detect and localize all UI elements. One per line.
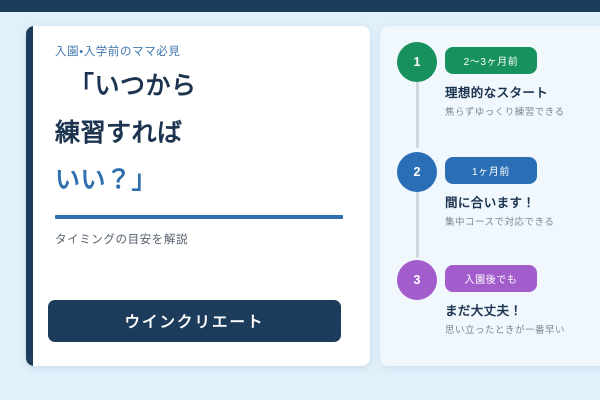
timeline-item[interactable]: 2 1ヶ月前 間に合います！ 集中コースで対応できる — [380, 148, 600, 258]
timeline-step-number: 2 — [414, 165, 421, 179]
timeline-subtitle: 集中コースで対応できる — [445, 214, 554, 228]
timeline-item[interactable]: 1 2〜3ヶ月前 理想的なスタート 焦らずゆっくり練習できる — [380, 38, 600, 148]
timeline-time-label: 入園後でも — [465, 271, 518, 286]
timeline-step-number: 3 — [414, 273, 421, 287]
timeline-step-badge: 3 — [397, 260, 437, 300]
left-accent-stripe — [26, 26, 33, 366]
cta-button-label: ウインクリエート — [124, 310, 264, 332]
divider — [55, 215, 343, 219]
timeline-time-badge: 1ヶ月前 — [445, 157, 537, 184]
timeline-step-badge: 1 — [397, 42, 437, 82]
caption-text: タイミングの目安を解説 — [55, 231, 348, 247]
top-accent-bar — [0, 0, 600, 12]
timeline-panel: 1 2〜3ヶ月前 理想的なスタート 焦らずゆっくり練習できる 2 1ヶ月前 間に… — [380, 26, 600, 366]
timeline-title: まだ大丈夫！ — [445, 300, 522, 319]
timeline-time-badge: 2〜3ヶ月前 — [445, 47, 537, 74]
timeline-time-label: 1ヶ月前 — [472, 163, 510, 178]
timeline-time-label: 2〜3ヶ月前 — [464, 53, 519, 68]
timeline-connector — [416, 190, 419, 258]
timeline-item[interactable]: 3 入園後でも まだ大丈夫！ 思い立ったときが一番早い — [380, 256, 600, 366]
timeline-connector — [416, 80, 419, 148]
page-title: 「いつから 練習すれば いい？」 — [55, 74, 348, 193]
timeline-subtitle: 思い立ったときが一番早い — [445, 322, 565, 336]
timeline-title: 理想的なスタート — [445, 82, 548, 101]
headline-line-3: いい？」 — [55, 168, 348, 193]
headline-line-2: 練習すれば — [55, 121, 348, 146]
timeline-subtitle: 焦らずゆっくり練習できる — [445, 104, 565, 118]
timeline-time-badge: 入園後でも — [445, 265, 537, 292]
eyebrow-text: 入園・入学前のママ必見 — [55, 46, 348, 60]
cta-button[interactable]: ウインクリエート — [48, 300, 341, 342]
headline-line-1: 「いつから — [55, 74, 348, 99]
timeline-title: 間に合います！ — [445, 192, 535, 211]
slide-canvas: 入園・入学前のママ必見 「いつから 練習すれば いい？」 タイミングの目安を解説… — [0, 0, 600, 400]
timeline-step-number: 1 — [414, 55, 421, 69]
timeline-step-badge: 2 — [397, 152, 437, 192]
headline-card: 入園・入学前のママ必見 「いつから 練習すれば いい？」 タイミングの目安を解説… — [26, 26, 370, 366]
